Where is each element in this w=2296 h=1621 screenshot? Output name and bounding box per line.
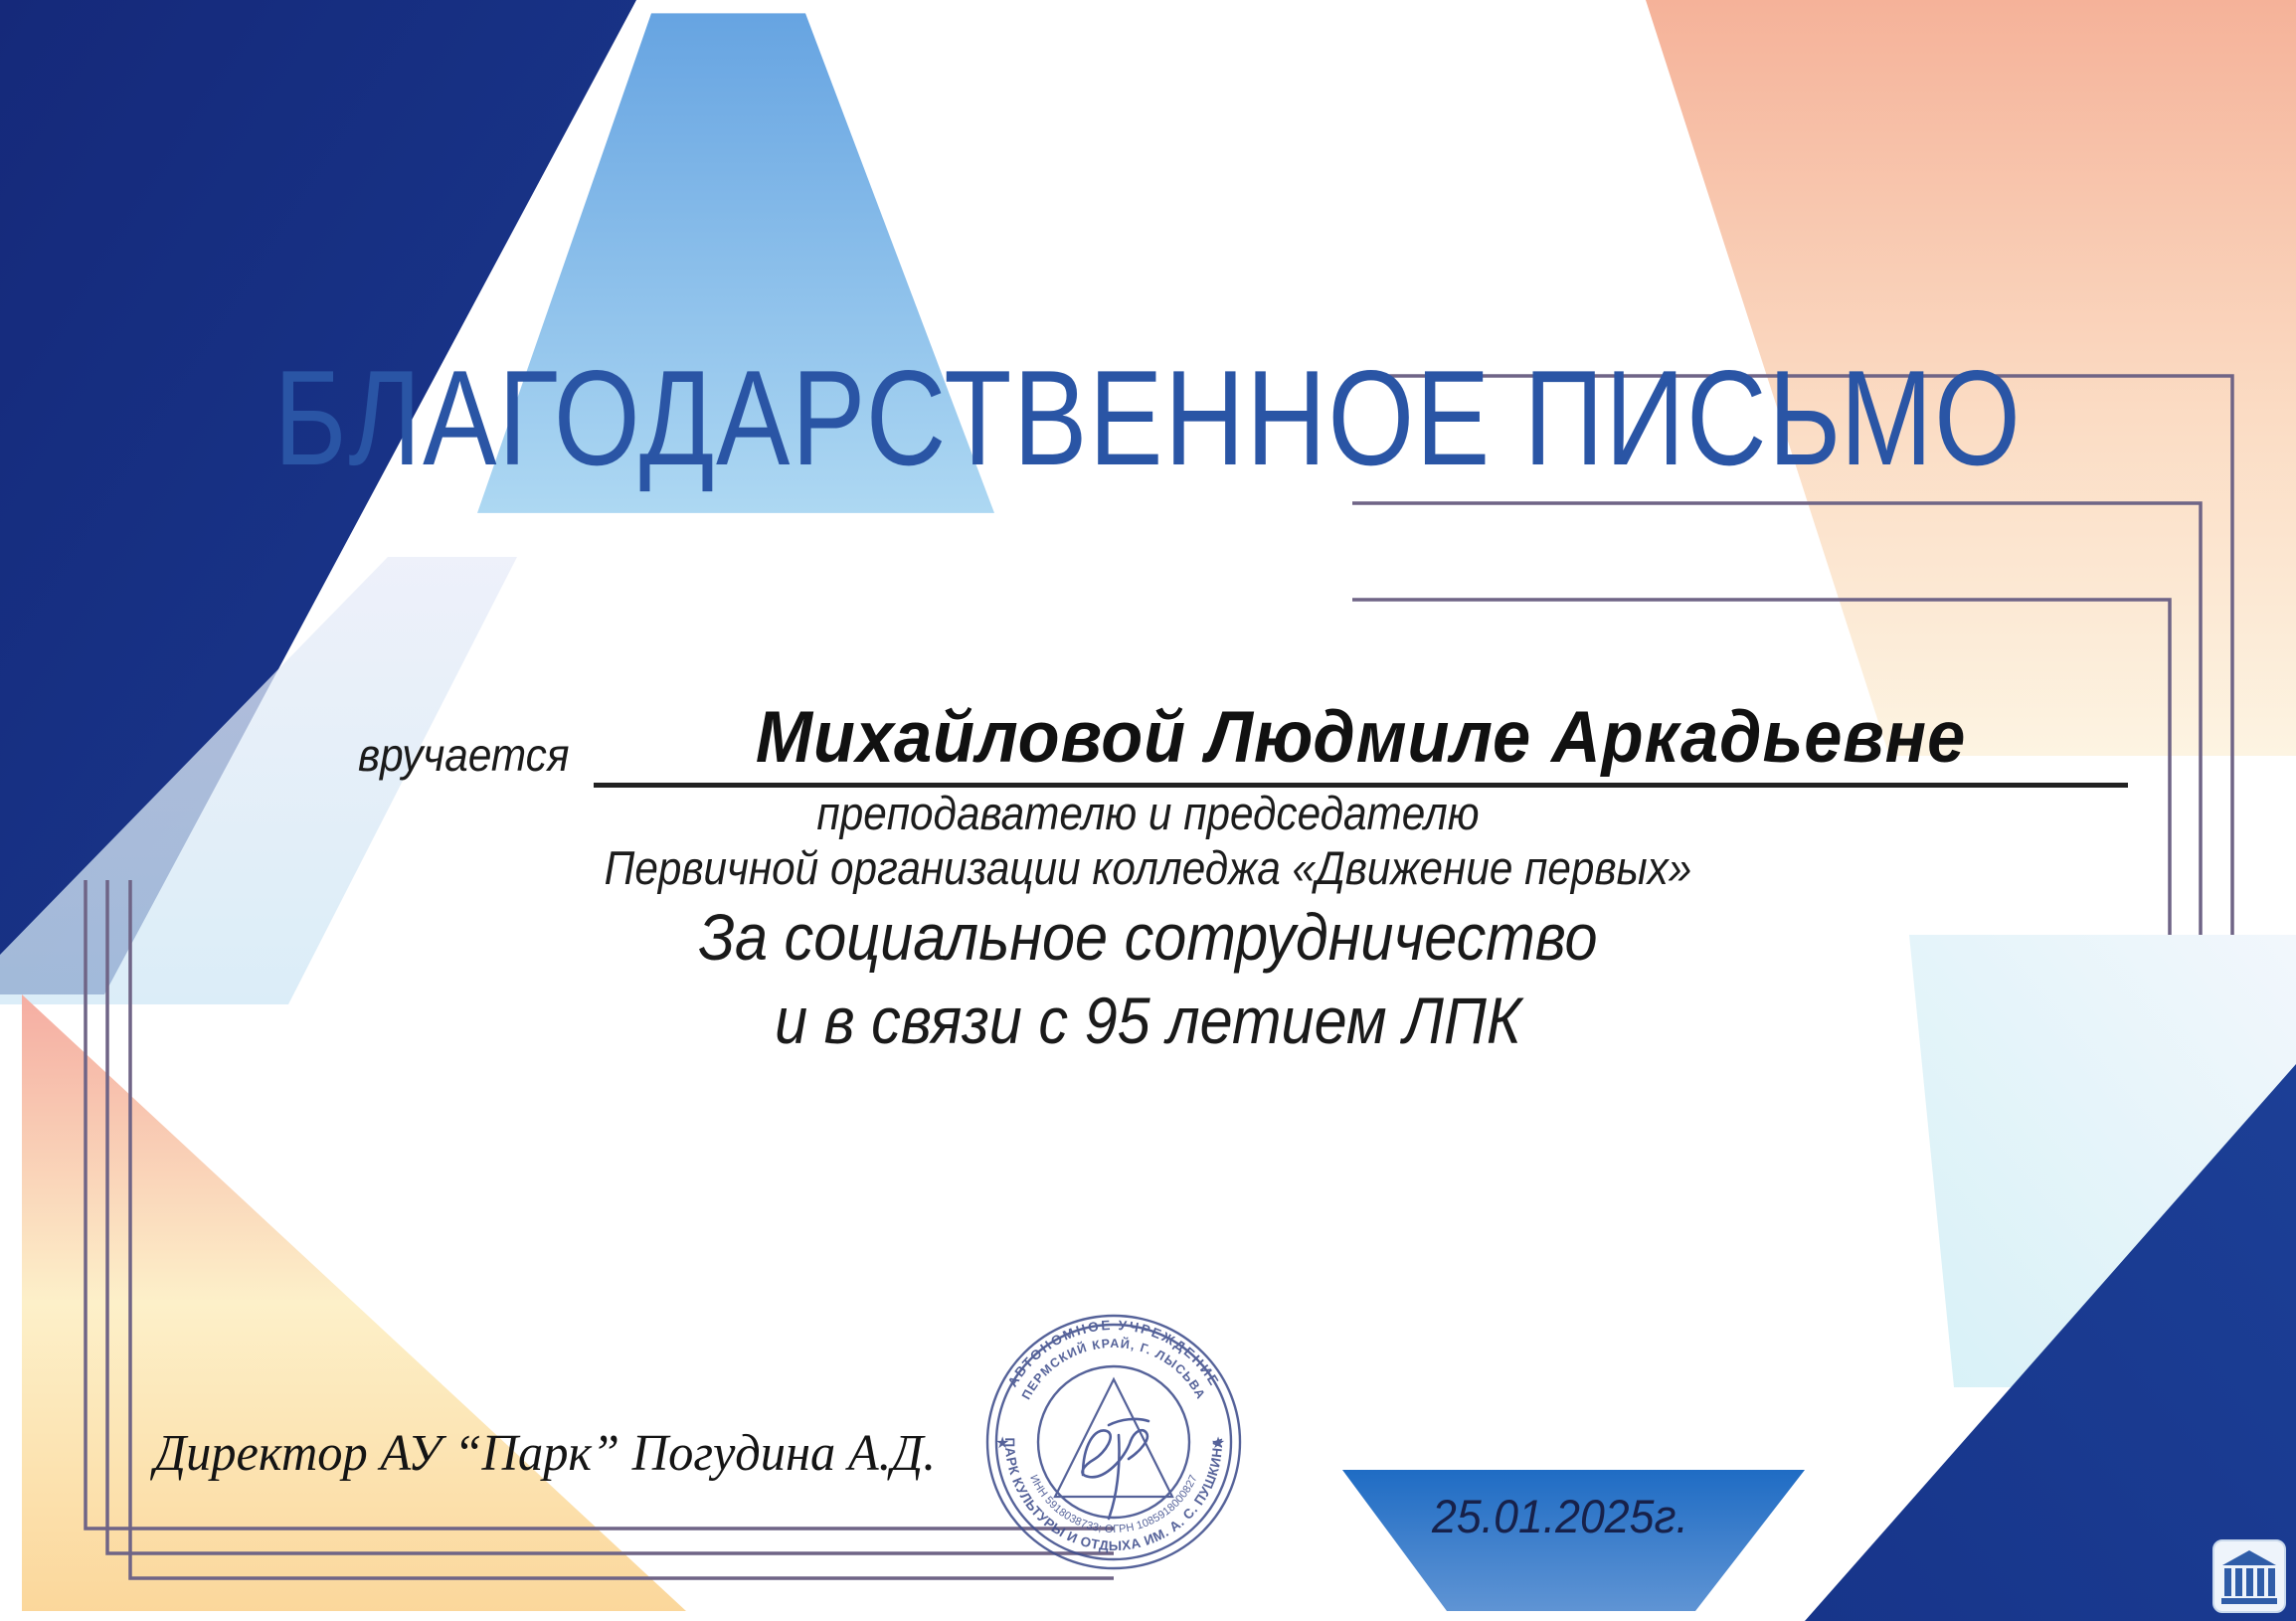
official-stamp: АВТОНОМНОЕ УЧРЕЖДЕНИЕ ПЕРМСКИЙ КРАЙ, Г. … bbox=[979, 1308, 1248, 1576]
recipient-underline: Михайловой Людмиле Аркадьевне bbox=[594, 696, 2128, 788]
award-reason-block: За социальное сотрудничество и в связи с… bbox=[0, 895, 2296, 1063]
director-signature-mark bbox=[1082, 1419, 1148, 1519]
award-reason-line-2: и в связи с 95 летием ЛПК bbox=[114, 979, 2181, 1062]
stamp-bottom-text: ПАРК КУЛЬТУРЫ И ОТДЫХА ИМ. А. С. ПУШКИНА bbox=[1002, 1437, 1225, 1553]
director-signature-line: Директор АУ “Парк” Погудина А.Д. bbox=[154, 1424, 936, 1483]
award-label: вручается bbox=[358, 728, 569, 788]
svg-text:★: ★ bbox=[995, 1433, 1009, 1452]
award-line: вручается Михайловой Людмиле Аркадьевне bbox=[358, 696, 2128, 788]
recipient-name: Михайловой Людмиле Аркадьевне bbox=[756, 696, 1966, 779]
recipient-role-line-2: Первичной организации колледжа «Движение… bbox=[114, 840, 2181, 895]
certificate-content: БЛАГОДАРСТВЕННОЕ ПИСЬМО вручается Михайл… bbox=[0, 0, 2296, 1621]
certificate-page: БЛАГОДАРСТВЕННОЕ ПИСЬМО вручается Михайл… bbox=[0, 0, 2296, 1621]
lpk-college-logo-icon bbox=[2210, 1537, 2288, 1615]
stamp-triangle-emblem bbox=[1055, 1379, 1172, 1497]
award-reason-line-1: За социальное сотрудничество bbox=[114, 895, 2181, 979]
recipient-role-line-1: преподавателю и председателю bbox=[114, 786, 2181, 840]
recipient-role-block: преподавателю и председателю Первичной о… bbox=[0, 786, 2296, 896]
issue-date: 25.01.2025г. bbox=[1432, 1489, 1688, 1543]
svg-text:★: ★ bbox=[1211, 1433, 1225, 1452]
page-title: БЛАГОДАРСТВЕННОЕ ПИСЬМО bbox=[207, 350, 2089, 485]
